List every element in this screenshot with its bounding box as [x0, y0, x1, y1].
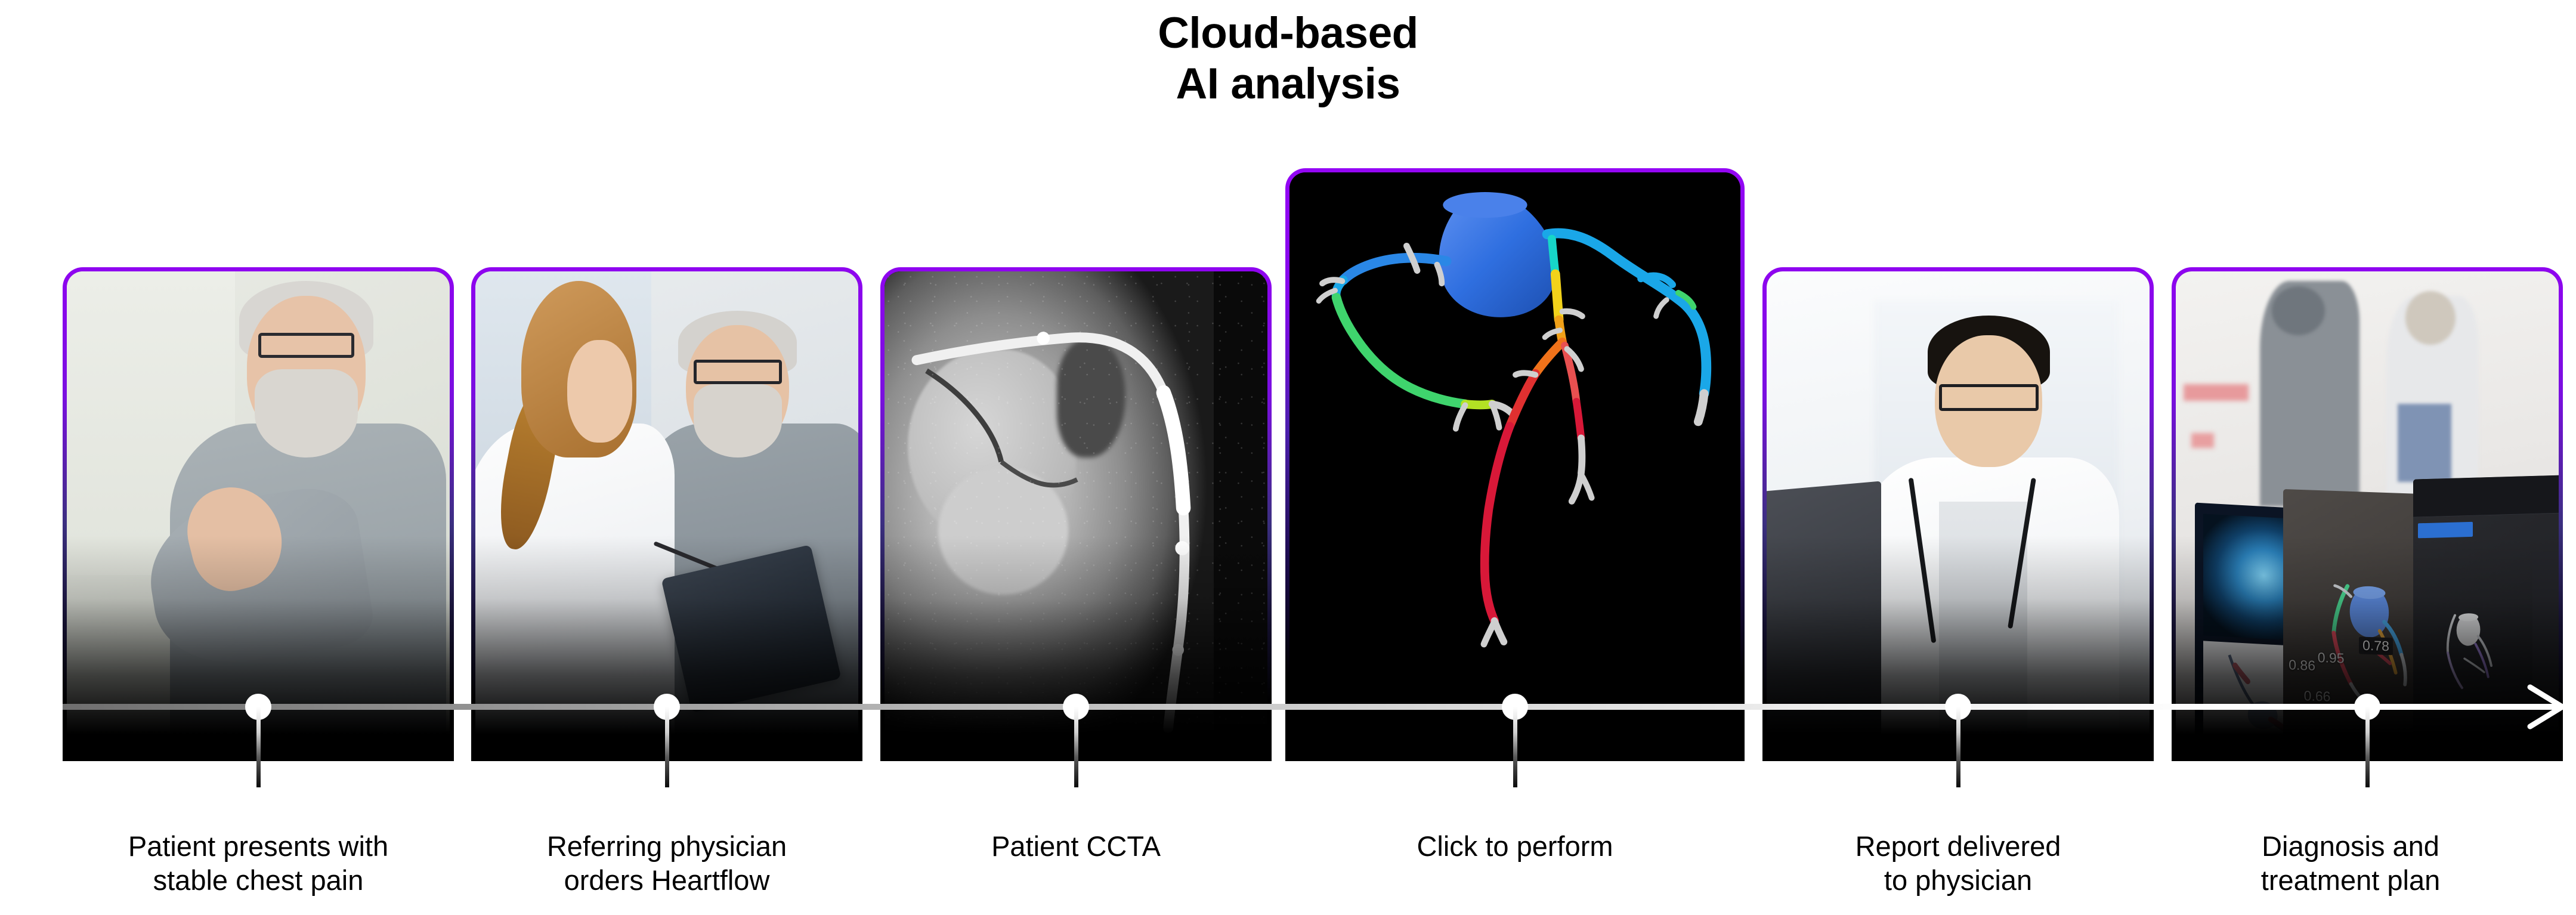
stage-3-photo — [885, 271, 1267, 761]
stage-1-caption: Patient presents with stable chest pain — [33, 829, 484, 898]
stage-2-photo — [475, 271, 858, 761]
photo-ccta-scan — [885, 271, 1267, 761]
stage-4-card[interactable] — [1285, 168, 1745, 761]
stage-3-card[interactable] — [880, 267, 1272, 761]
stage-2-card[interactable] — [471, 267, 862, 761]
stage-3-caption: Patient CCTA — [851, 829, 1301, 863]
photo-report-delivered — [1767, 271, 2150, 761]
photo-diagnosis-workstation: 0.86 0.95 0.78 0.66 0.70 0.69 — [2176, 271, 2559, 761]
timeline-stem-5 — [1956, 707, 1960, 787]
plaque-model-render — [2416, 553, 2511, 744]
stage-2[interactable] — [471, 267, 862, 761]
stage-6-photo: 0.86 0.95 0.78 0.66 0.70 0.69 — [2176, 271, 2559, 761]
timeline-node-6[interactable] — [2172, 0, 2563, 1]
stage-5-card[interactable] — [1762, 267, 2154, 761]
timeline-node-1[interactable] — [63, 0, 454, 1]
ffr-value-1: 0.95 — [2318, 650, 2345, 667]
timeline-node-4[interactable] — [1285, 0, 1745, 1]
ffr-coronary-render — [2283, 489, 2421, 761]
coronary-tree-svg[interactable] — [1289, 172, 1740, 761]
photo-patient-chest-pain — [67, 271, 450, 761]
ffr-value-0: 0.86 — [2289, 657, 2315, 675]
timeline-stem-4 — [1513, 707, 1517, 787]
stage-5-photo — [1767, 271, 2150, 761]
stage-3[interactable] — [880, 267, 1272, 761]
ffr-value-3: 0.66 — [2303, 688, 2330, 706]
timeline-axis — [63, 704, 2559, 710]
stage-1[interactable] — [63, 267, 454, 761]
timeline-stem-6 — [2365, 707, 2370, 787]
stage-2-caption: Referring physician orders Heartflow — [441, 829, 892, 898]
stage-4-caption: Click to perform — [1289, 829, 1740, 863]
stage-6-card[interactable]: 0.86 0.95 0.78 0.66 0.70 0.69 — [2172, 267, 2563, 761]
timeline-node-5[interactable] — [1762, 0, 2154, 1]
coronary-3d-model[interactable] — [1289, 172, 1740, 761]
stage-6[interactable]: 0.86 0.95 0.78 0.66 0.70 0.69 — [2172, 267, 2563, 761]
timeline-arrow-icon — [2525, 684, 2571, 730]
stage-1-card[interactable] — [63, 267, 454, 761]
photo-physician-orders-test — [475, 271, 858, 761]
ffr-value-4: 0.70 — [2327, 731, 2354, 748]
stage-4-photo — [1289, 172, 1740, 761]
timeline-stem-2 — [665, 707, 669, 787]
workflow-timeline: 0.86 0.95 0.78 0.66 0.70 0.69 — [0, 0, 2576, 915]
stage-5[interactable] — [1762, 267, 2154, 761]
ffr-value-2: 0.78 — [2359, 637, 2393, 656]
timeline-node-3[interactable] — [880, 0, 1272, 1]
stage-4[interactable] — [1285, 168, 1745, 761]
timeline-stem-1 — [256, 707, 261, 787]
timeline-node-2[interactable] — [471, 0, 862, 1]
timeline-stem-3 — [1074, 707, 1078, 787]
stage-5-caption: Report delivered to physician — [1733, 829, 2184, 898]
monitor-ffr-model: 0.86 0.95 0.78 0.66 0.70 0.69 — [2283, 489, 2421, 761]
stage-6-caption: Diagnosis and treatment plan — [2125, 829, 2576, 898]
stage-1-photo — [67, 271, 450, 761]
